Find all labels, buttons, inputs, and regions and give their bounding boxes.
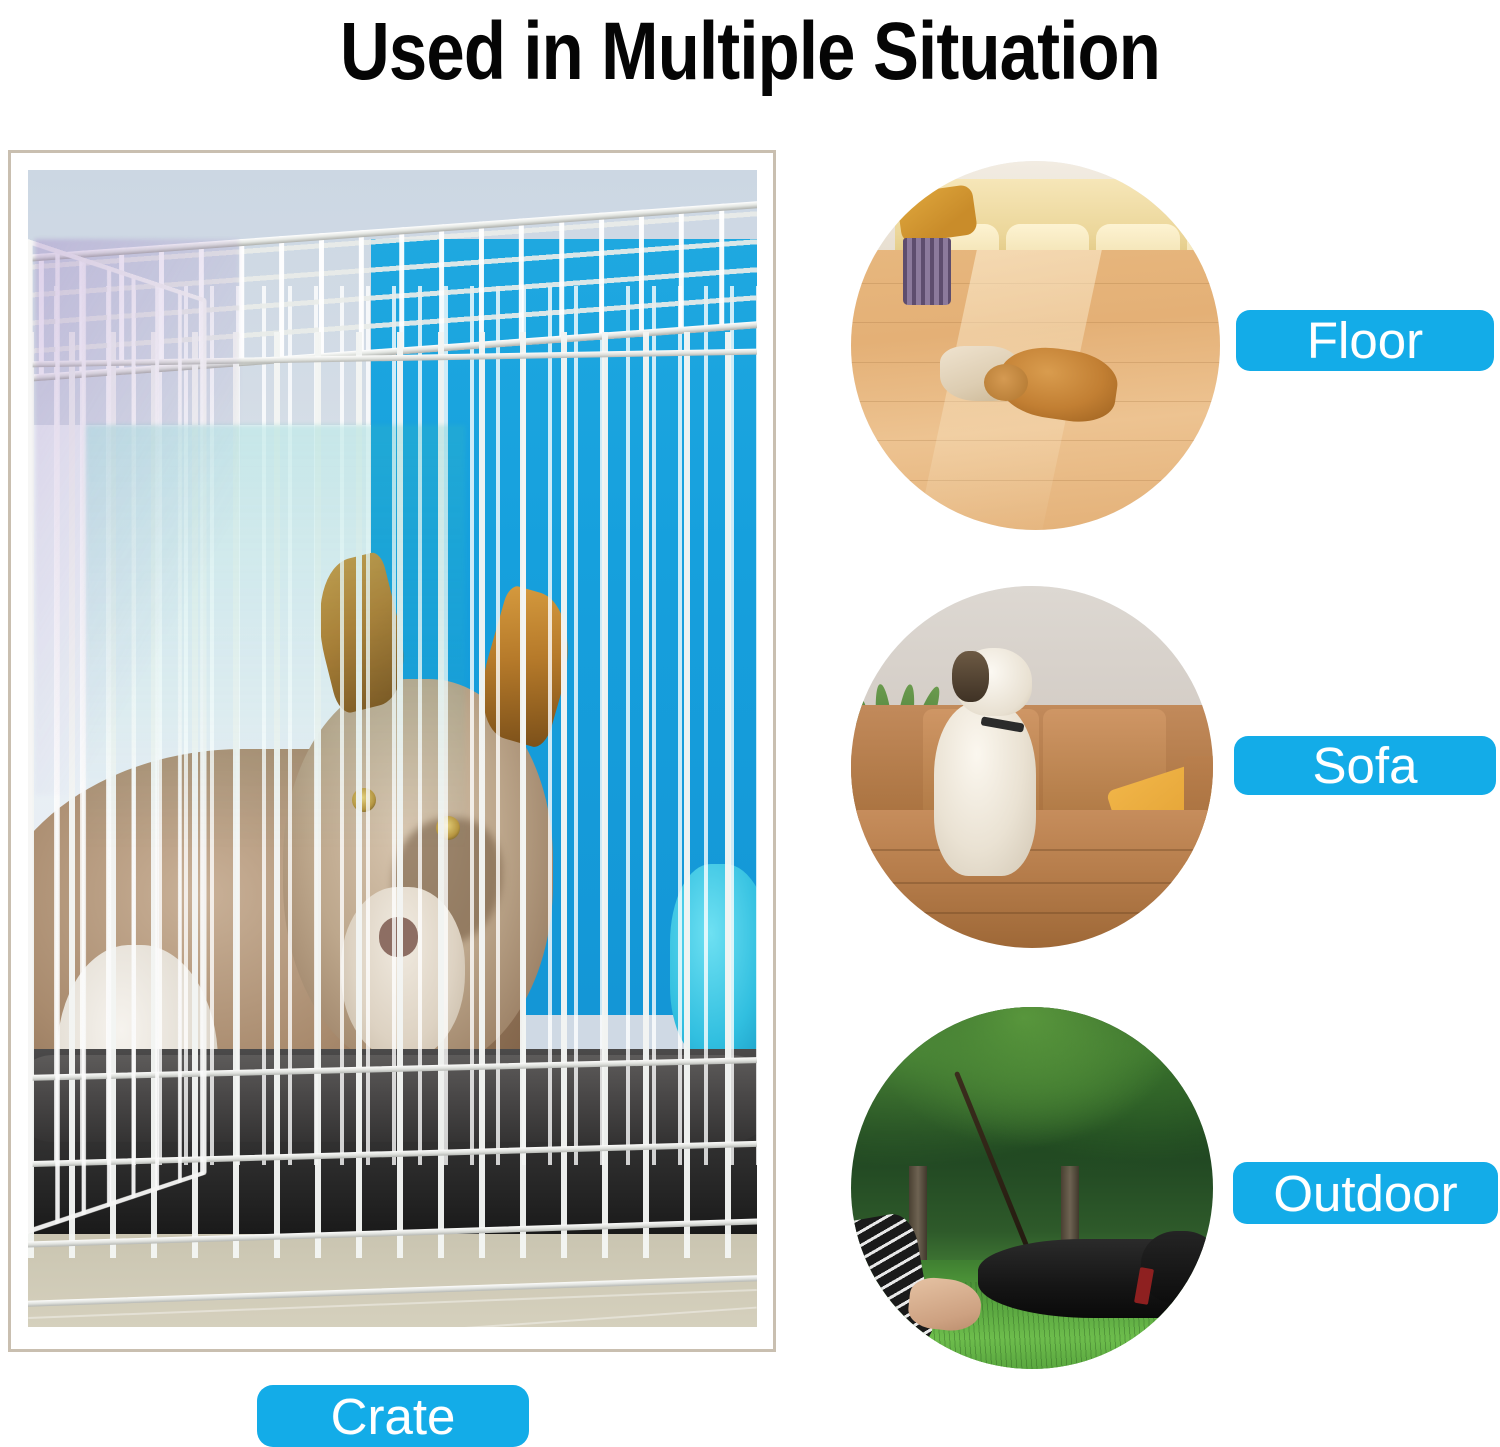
blue-toy — [670, 864, 757, 1061]
situation-label-sofa[interactable]: Sofa — [1234, 736, 1496, 795]
situation-label-floor[interactable]: Floor — [1236, 310, 1494, 371]
sofa-scene-dog-ear — [952, 651, 988, 702]
situation-image-floor — [851, 161, 1220, 530]
floor-scene-dog-head — [984, 364, 1028, 401]
seat-fold-line — [851, 849, 1213, 851]
outdoor-scene — [851, 1007, 1213, 1369]
outdoor-scene-dog-head — [1141, 1231, 1213, 1303]
situation-image-sofa — [851, 586, 1213, 948]
crate-dog-muzzle — [341, 887, 465, 1061]
floor-scene-sofa-pillow — [896, 184, 978, 244]
outdoor-scene-foliage — [851, 1007, 1213, 1202]
floor-scene — [851, 161, 1220, 530]
crate-dog-nose — [379, 917, 418, 956]
situation-image-outdoor — [851, 1007, 1213, 1369]
page-title: Used in Multiple Situation — [120, 0, 1380, 112]
crate-dog-eye-right — [436, 816, 460, 840]
situation-label-outdoor[interactable]: Outdoor — [1233, 1162, 1498, 1224]
seat-fold-line — [851, 912, 1213, 914]
crate-photo — [28, 170, 757, 1327]
tile-grout-line — [429, 1307, 756, 1327]
crate-photo-frame — [8, 150, 776, 1352]
sofa-scene — [851, 586, 1213, 948]
seat-fold-line — [851, 882, 1213, 884]
crate-dog-bed-bolster — [28, 1055, 757, 1142]
situation-label-crate[interactable]: Crate — [257, 1385, 529, 1447]
floor-scene-side-table — [903, 238, 951, 304]
